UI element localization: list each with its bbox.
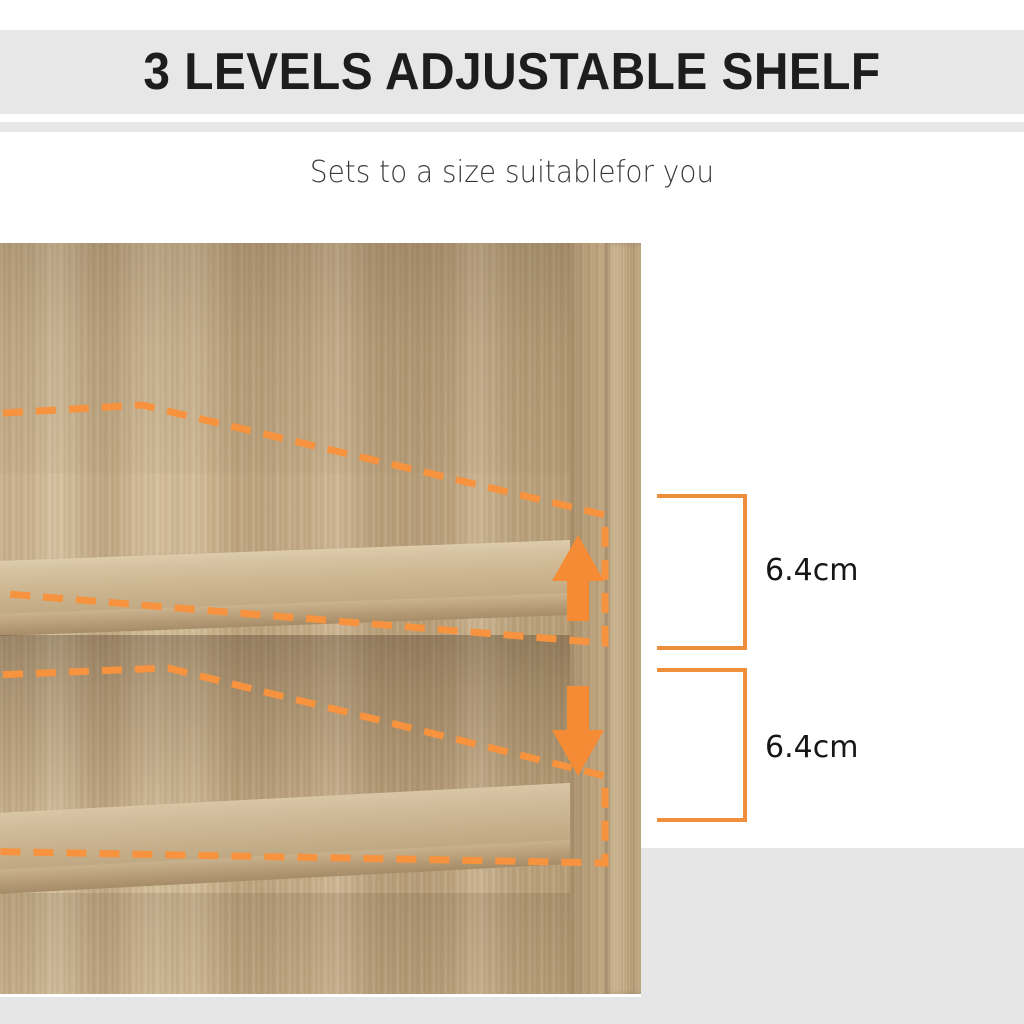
page-subtitle: Sets to a size suitablefor you xyxy=(36,155,988,190)
product-photo xyxy=(0,243,641,995)
page-title: 3 LEVELS ADJUSTABLE SHELF xyxy=(41,30,983,114)
dimension-callout-panel: 6.4cm 6.4cm xyxy=(641,243,1024,848)
up-arrow-icon xyxy=(552,535,604,621)
dimension-bracket-upper xyxy=(657,494,747,650)
dimension-bracket-lower xyxy=(657,668,747,822)
footer-panel-bottom xyxy=(0,997,641,1024)
infographic-page: 3 LEVELS ADJUSTABLE SHELF Sets to a size… xyxy=(0,0,1024,1024)
lower-slot-dashed-outline xyxy=(0,668,605,863)
header-divider-rule xyxy=(0,122,1024,132)
dimension-label-upper: 6.4cm xyxy=(765,553,858,588)
dimension-label-lower: 6.4cm xyxy=(765,730,858,765)
upper-slot-dashed-outline xyxy=(0,405,605,643)
annotation-overlay xyxy=(0,243,641,995)
footer-panel-right xyxy=(641,848,1024,1024)
